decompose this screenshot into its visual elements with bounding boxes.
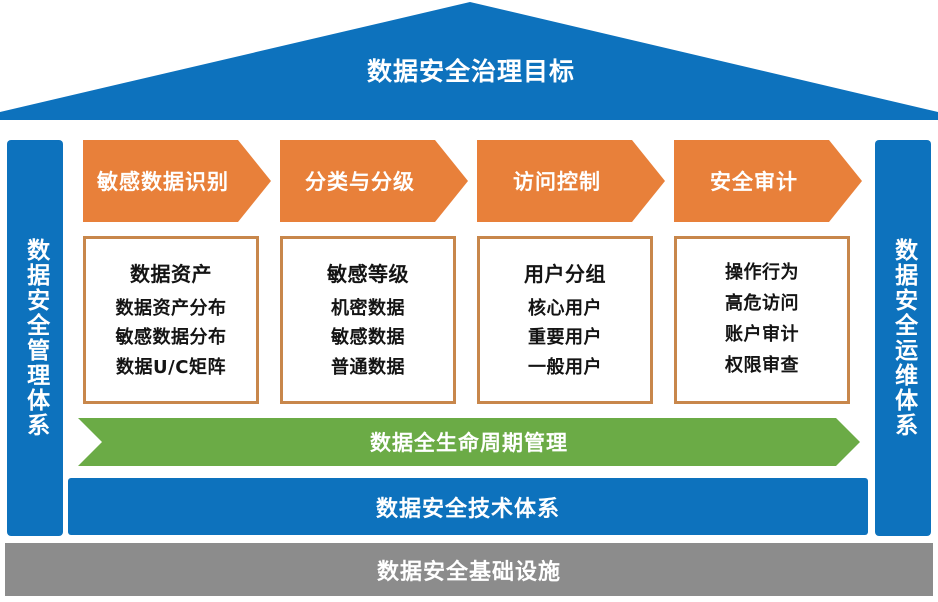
process-arrow-label: 安全审计 — [674, 140, 834, 222]
lifecycle-band[interactable]: 数据全生命周期管理 — [78, 418, 860, 466]
detail-box-item: 核心用户 — [528, 294, 602, 323]
pillar-left-label: 数据安全管理体系 — [21, 238, 48, 438]
process-arrow-access-control[interactable]: 访问控制 — [477, 140, 665, 222]
detail-box-heading: 敏感等级 — [327, 258, 409, 287]
process-arrow-sensitive-data-identification[interactable]: 敏感数据识别 — [83, 140, 271, 222]
detail-box-item: 账户审计 — [725, 320, 799, 351]
detail-box-item: 敏感数据分布 — [116, 323, 227, 352]
technical-system-label: 数据安全技术体系 — [376, 491, 560, 523]
process-arrow-label: 分类与分级 — [280, 140, 440, 222]
detail-box-heading: 用户分组 — [524, 258, 606, 287]
detail-box-item: 重要用户 — [528, 323, 602, 352]
detail-box-audit-items[interactable]: 操作行为 高危访问 账户审计 权限审查 — [674, 236, 850, 404]
detail-box-item: 机密数据 — [331, 294, 405, 323]
detail-box-item: 敏感数据 — [331, 323, 405, 352]
detail-box-item: 普通数据 — [331, 353, 405, 382]
detail-box-data-assets[interactable]: 数据资产 数据资产分布 敏感数据分布 数据U/C矩阵 — [83, 236, 259, 404]
process-arrow-label: 访问控制 — [477, 140, 637, 222]
detail-box-item: 高危访问 — [725, 289, 799, 320]
process-arrow-security-audit[interactable]: 安全审计 — [674, 140, 862, 222]
infrastructure-bar[interactable]: 数据安全基础设施 — [5, 543, 933, 596]
pillar-left-management-system[interactable]: 数据安全管理体系 — [7, 140, 63, 536]
data-security-governance-diagram: 数据安全治理目标 数据安全管理体系 数据安全运维体系 敏感数据识别 分类与分级 … — [0, 0, 938, 602]
pillar-right-label: 数据安全运维体系 — [889, 238, 916, 438]
detail-box-item: 操作行为 — [725, 258, 799, 289]
process-arrow-classification-grading[interactable]: 分类与分级 — [280, 140, 468, 222]
technical-system-bar[interactable]: 数据安全技术体系 — [68, 478, 868, 535]
infrastructure-label: 数据安全基础设施 — [377, 554, 561, 586]
detail-box-item: 权限审查 — [725, 351, 799, 382]
roof-label: 数据安全治理目标 — [2, 52, 938, 88]
detail-box-sensitivity-levels[interactable]: 敏感等级 机密数据 敏感数据 普通数据 — [280, 236, 456, 404]
detail-box-item: 数据U/C矩阵 — [116, 353, 226, 382]
detail-box-user-groups[interactable]: 用户分组 核心用户 重要用户 一般用户 — [477, 236, 653, 404]
detail-box-heading: 数据资产 — [130, 258, 212, 287]
lifecycle-band-label: 数据全生命周期管理 — [78, 418, 860, 466]
detail-box-item: 数据资产分布 — [116, 294, 227, 323]
process-arrow-label: 敏感数据识别 — [83, 140, 243, 222]
detail-box-item: 一般用户 — [528, 353, 602, 382]
pillar-right-operations-system[interactable]: 数据安全运维体系 — [875, 140, 931, 536]
roof-banner: 数据安全治理目标 — [0, 0, 938, 120]
